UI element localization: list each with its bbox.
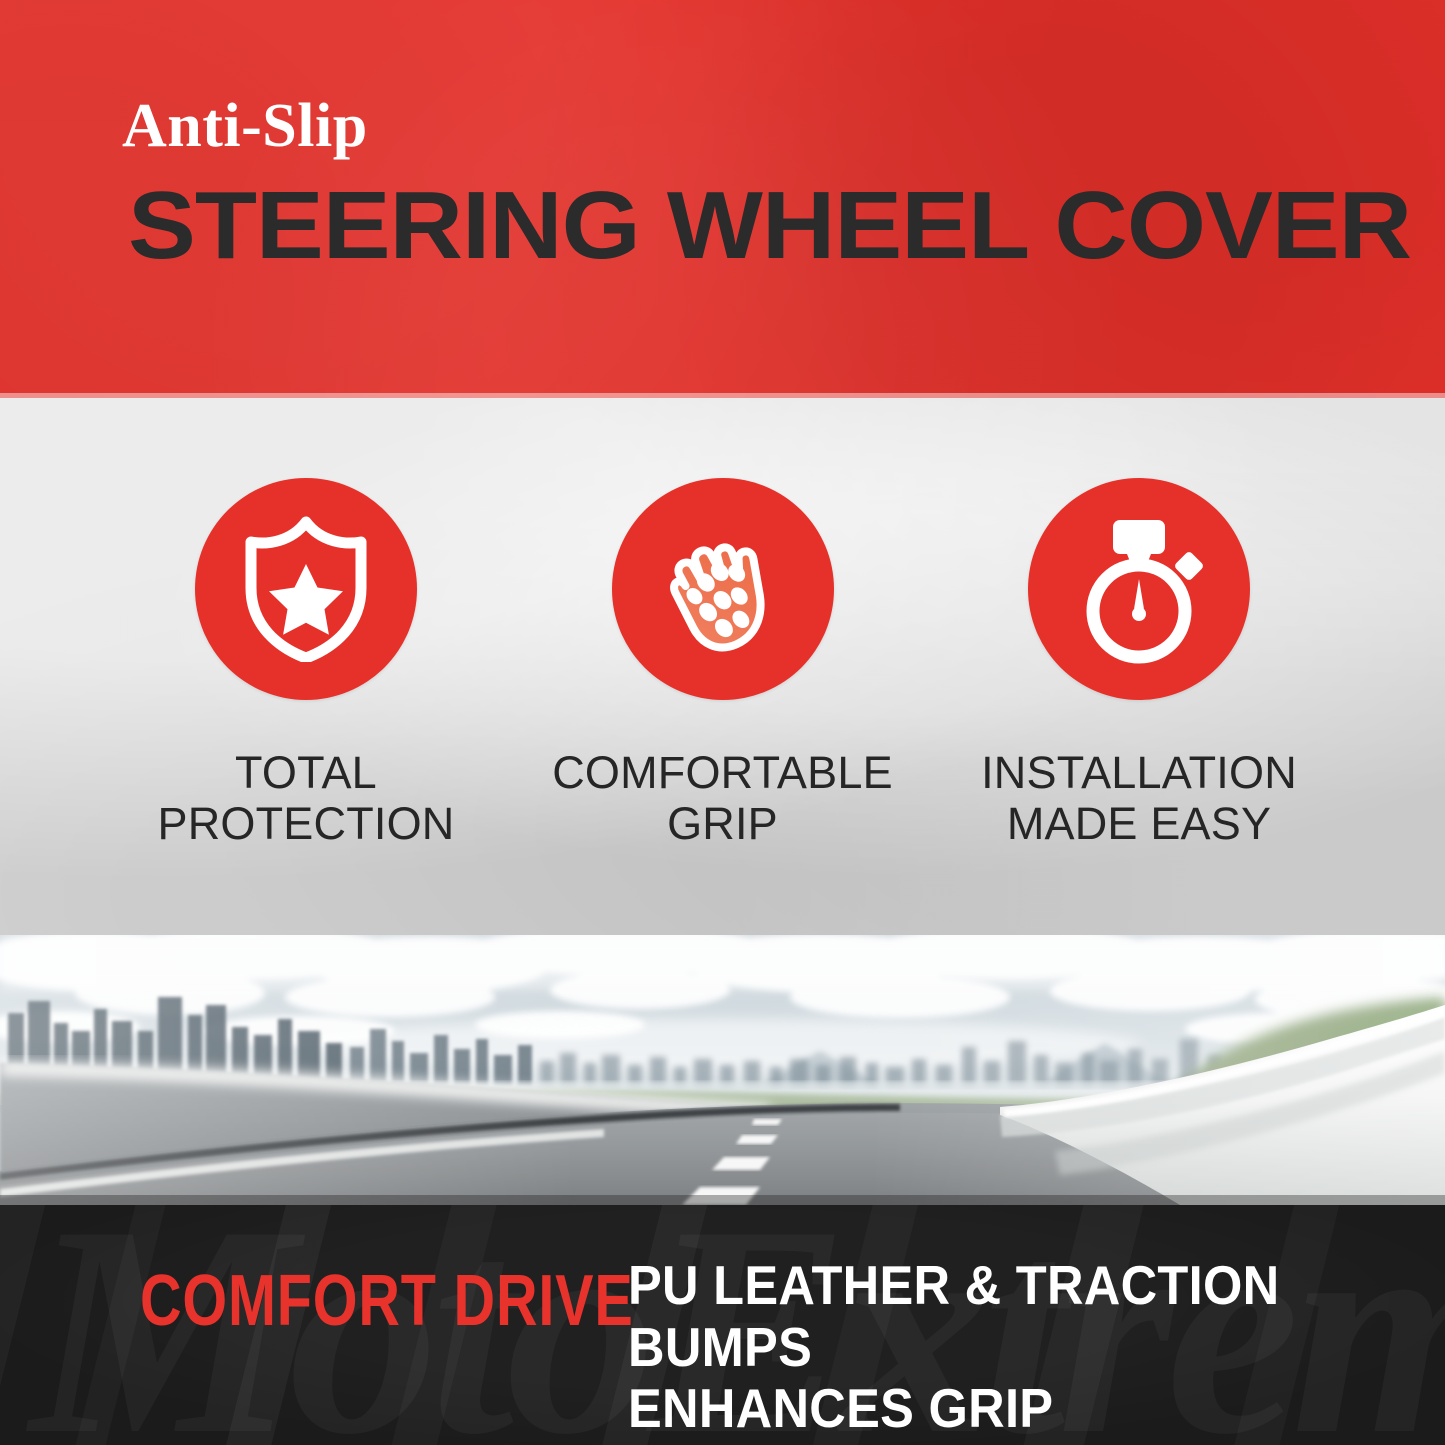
feature-label: INSTALLATION MADE EASY: [981, 748, 1297, 850]
features-section: TOTAL PROTECTION: [0, 398, 1445, 935]
header-banner: Anti-Slip STEERING WHEEL COVER: [0, 0, 1445, 398]
product-infographic: Anti-Slip STEERING WHEEL COVER TOTAL PRO…: [0, 0, 1445, 1445]
feature-comfortable-grip: COMFORTABLE GRIP: [567, 398, 879, 935]
feature-label: COMFORTABLE GRIP: [552, 748, 893, 850]
header-kicker: Anti-Slip: [122, 95, 368, 157]
footer-tagline: PU LEATHER & TRACTION BUMPS ENHANCES GRI…: [628, 1255, 1380, 1440]
stopwatch-icon: [1028, 478, 1250, 700]
hand-grip-icon: [612, 478, 834, 700]
footer-brand-title: COMFORT DRIVE: [140, 1265, 634, 1337]
features-row: TOTAL PROTECTION: [0, 398, 1445, 935]
feature-label: TOTAL PROTECTION: [157, 748, 454, 850]
shield-star-icon: [195, 478, 417, 700]
footer-bar: MotoExtreme COMFORT DRIVE PU LEATHER & T…: [0, 1205, 1445, 1445]
highway-photo: [0, 935, 1445, 1205]
feature-total-protection: TOTAL PROTECTION: [150, 398, 462, 935]
feature-installation-made-easy: INSTALLATION MADE EASY: [983, 398, 1295, 935]
header-headline: STEERING WHEEL COVER: [128, 178, 1411, 274]
